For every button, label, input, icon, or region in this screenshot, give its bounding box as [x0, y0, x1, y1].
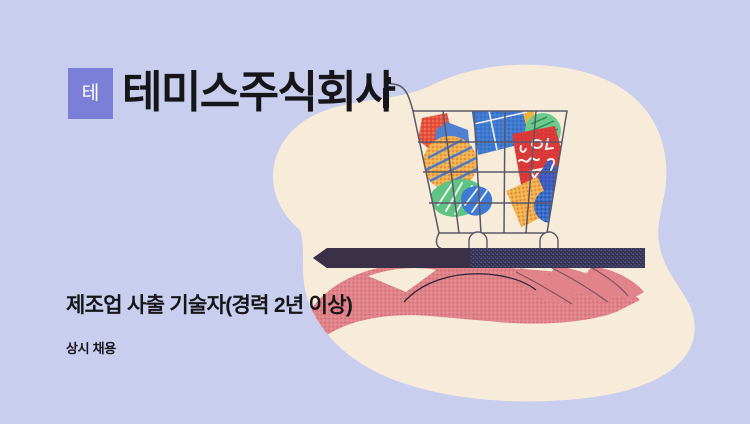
employment-type-label: 상시 채용	[66, 340, 116, 358]
company-logo-initial: 테	[82, 84, 99, 103]
shelf-bar-solid-left	[313, 248, 470, 268]
job-title: 제조업 사출 기술자(경력 2년 이상)	[66, 292, 352, 320]
job-posting-banner: 테 테미스주식회사 제조업 사출 기술자(경력 2년 이상) 상시 채용	[0, 0, 750, 424]
company-name: 테미스주식회사	[122, 67, 394, 119]
illustration-hand-holding-shopping-cart	[0, 0, 750, 424]
company-logo-badge: 테	[68, 68, 113, 119]
